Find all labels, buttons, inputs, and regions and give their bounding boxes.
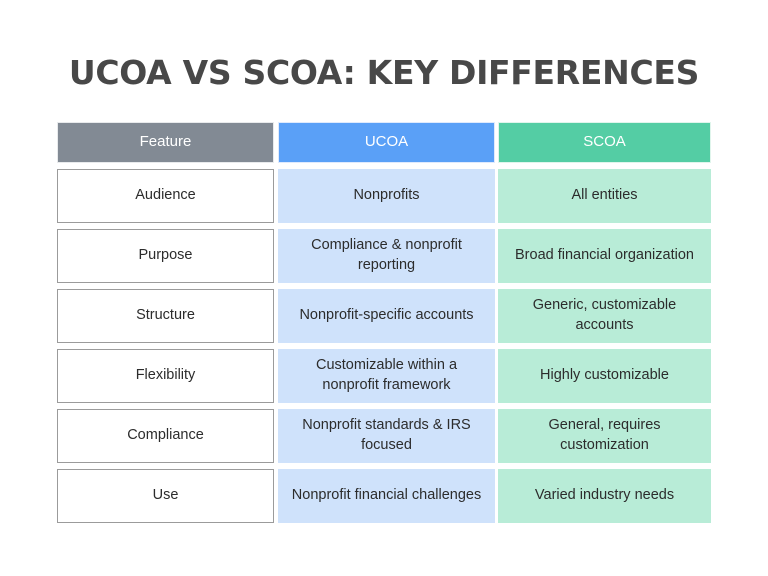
table-row: Flexibility Customizable within a nonpro… [57,349,711,403]
cell-scoa: Broad financial organization [498,229,711,283]
table-row: Structure Nonprofit-specific accounts Ge… [57,289,711,343]
comparison-table: Feature UCOA SCOA Audience Nonprofits Al… [57,122,711,523]
cell-ucoa: Nonprofit-specific accounts [278,289,495,343]
cell-feature: Structure [57,289,274,343]
table-header-row: Feature UCOA SCOA [57,122,711,163]
cell-scoa: Generic, customizable accounts [498,289,711,343]
cell-feature: Flexibility [57,349,274,403]
slide-canvas: UCOA VS SCOA: KEY DIFFERENCES Feature UC… [0,0,768,576]
column-header-feature: Feature [57,122,274,163]
table-row: Audience Nonprofits All entities [57,169,711,223]
cell-scoa: Highly customizable [498,349,711,403]
table-row: Purpose Compliance & nonprofit reporting… [57,229,711,283]
cell-feature: Audience [57,169,274,223]
table-row: Compliance Nonprofit standards & IRS foc… [57,409,711,463]
cell-ucoa: Nonprofit standards & IRS focused [278,409,495,463]
cell-ucoa: Compliance & nonprofit reporting [278,229,495,283]
cell-scoa: All entities [498,169,711,223]
table-row: Use Nonprofit financial challenges Varie… [57,469,711,523]
cell-scoa: Varied industry needs [498,469,711,523]
cell-feature: Purpose [57,229,274,283]
column-header-ucoa: UCOA [278,122,495,163]
cell-feature: Use [57,469,274,523]
cell-ucoa: Nonprofits [278,169,495,223]
cell-ucoa: Nonprofit financial challenges [278,469,495,523]
cell-scoa: General, requires customization [498,409,711,463]
column-header-scoa: SCOA [498,122,711,163]
cell-ucoa: Customizable within a nonprofit framewor… [278,349,495,403]
cell-feature: Compliance [57,409,274,463]
page-title: UCOA VS SCOA: KEY DIFFERENCES [0,53,768,92]
